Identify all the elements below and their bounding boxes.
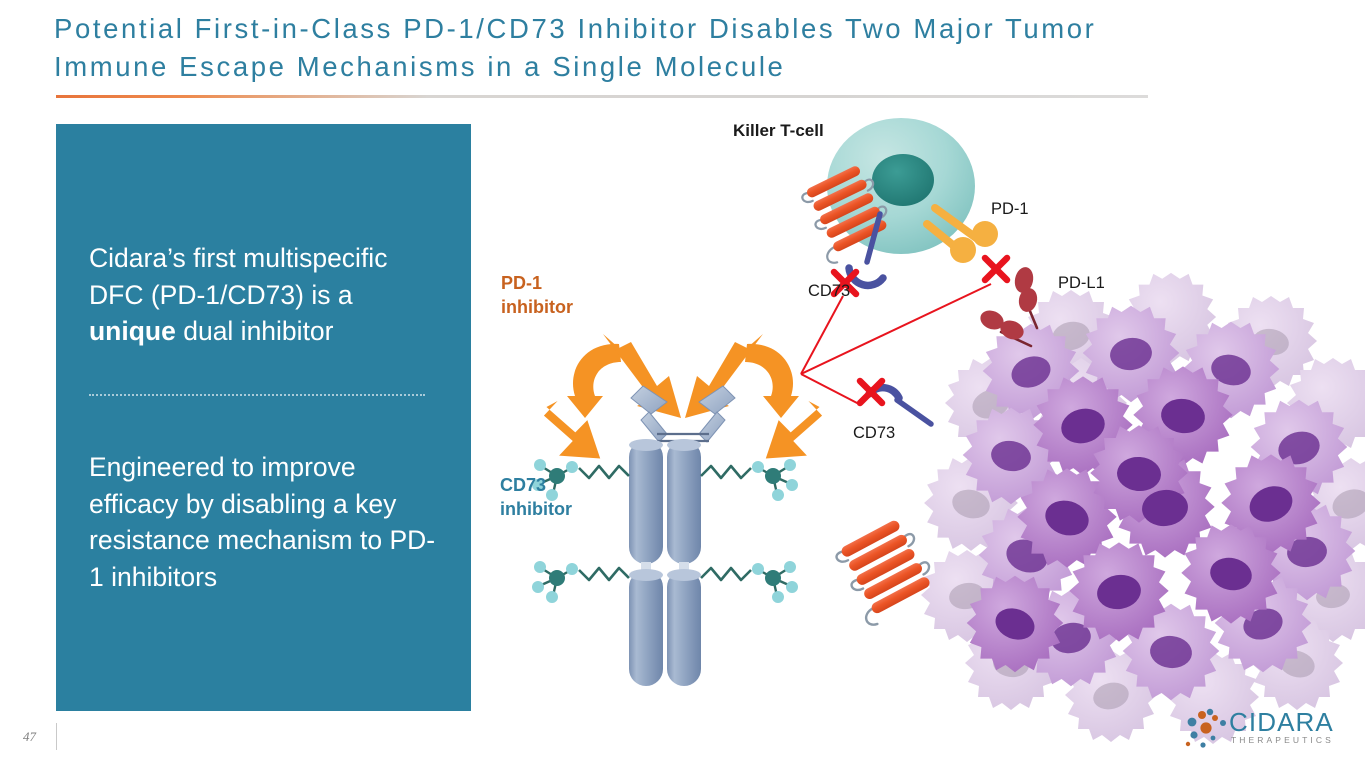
- label-pd1: PD-1: [991, 200, 1029, 219]
- helix-receptor-tumor: [831, 515, 942, 627]
- panel-divider: [89, 394, 425, 396]
- logo-tagline: THERAPEUTICS: [1231, 735, 1334, 745]
- label-pd1-inhibitor: PD-1 inhibitor: [501, 271, 573, 319]
- panel-paragraph-1: Cidara’s first multispecific DFC (PD-1/C…: [89, 240, 439, 350]
- fc-cylinders-upper: [629, 439, 701, 564]
- cd73-receptor-tumor: [869, 388, 931, 424]
- text-panel: Cidara’s first multispecific DFC (PD-1/C…: [56, 124, 471, 711]
- mechanism-diagram: Killer T-cell PD-1 PD-L1 CD73 CD73 PD-1 …: [471, 104, 1365, 744]
- panel-paragraph-2: Engineered to improve efficacy by disabl…: [89, 449, 439, 595]
- footer-divider: [56, 723, 57, 750]
- label-pdl1: PD-L1: [1058, 274, 1105, 293]
- killer-tcell: [796, 118, 998, 285]
- dfc-molecule: [532, 334, 824, 686]
- diagram-svg: [471, 104, 1365, 744]
- fc-cylinders-lower: [629, 569, 701, 686]
- label-cd73-tumor: CD73: [853, 424, 895, 443]
- label-cd73-inhibitor: CD73 inhibitor: [500, 473, 572, 521]
- tumor-mass: [921, 273, 1365, 744]
- title-accent-rule: [56, 95, 1148, 98]
- logo-wordmark: CIDARA: [1229, 707, 1334, 738]
- page-title: Potential First-in-Class PD-1/CD73 Inhib…: [54, 10, 1324, 86]
- label-cd73-tcell: CD73: [808, 282, 850, 301]
- page-number: 47: [23, 729, 36, 745]
- label-killer-tcell: Killer T-cell: [733, 121, 824, 141]
